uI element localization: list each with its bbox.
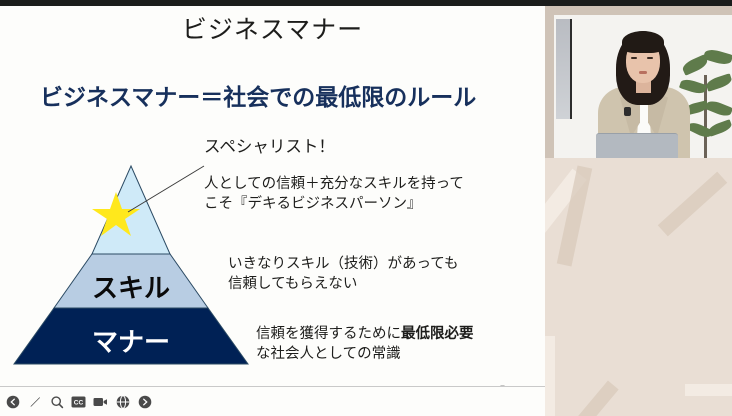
- slide-title: ビジネスマナー: [0, 10, 545, 46]
- search-icon[interactable]: [49, 394, 64, 409]
- slide-canvas: ビジネスマナー ビジネスマナー＝社会での最低限のルール スキル マナー スペシャ…: [0, 6, 545, 386]
- laptop: [596, 133, 678, 158]
- manner-note-line-1-emphasis: 最低限必要: [401, 326, 474, 342]
- window-top-strip: [0, 0, 732, 6]
- clip-microphone: [624, 107, 631, 116]
- specialist-note-heading: スペシャリスト！: [204, 136, 335, 159]
- decor-stripe-4: [545, 336, 555, 416]
- forward-icon[interactable]: [137, 394, 152, 409]
- skill-note-line-1: いきなりスキル（技術）があっても: [228, 254, 459, 274]
- presenter-mouth: [639, 71, 647, 74]
- presentation-player: ビジネスマナー ビジネスマナー＝社会での最低限のルール スキル マナー スペシャ…: [0, 0, 732, 416]
- presenter-eye-left: [631, 57, 637, 59]
- back-icon[interactable]: [5, 394, 20, 409]
- specialist-note-line-2: こそ『デキるビジネスパーソン』: [204, 194, 464, 214]
- presenter-pane: [545, 6, 732, 416]
- specialist-note-body: 人としての信頼＋充分なスキルを持って こそ『デキるビジネスパーソン』: [204, 174, 464, 214]
- manner-note-line-1: 信頼を獲得するために最低限必要: [256, 324, 474, 344]
- video-content: [554, 15, 732, 158]
- skill-note-line-2: 信頼してもらえない: [228, 274, 459, 294]
- player-toolbar: CC: [0, 386, 545, 416]
- manner-note-line-1-plain: 信頼を獲得するために: [256, 326, 401, 342]
- specialist-note-line-1: 人としての信頼＋充分なスキルを持って: [204, 174, 464, 194]
- monitor: [556, 19, 572, 119]
- presenter-eye-right: [647, 57, 653, 59]
- slide-subtitle: ビジネスマナー＝社会での最低限のルール: [40, 78, 476, 112]
- manner-note-line-2: な社会人としての常識: [256, 344, 474, 364]
- svg-text:CC: CC: [74, 399, 84, 406]
- presenter-fringe: [622, 31, 664, 53]
- decor-stripe-5: [569, 381, 618, 416]
- manner-note: 信頼を獲得するために最低限必要 な社会人としての常識: [256, 324, 474, 364]
- presenter-video[interactable]: [545, 6, 732, 158]
- skill-note: いきなりスキル（技術）があっても 信頼してもらえない: [228, 254, 459, 294]
- manner-tier-label: マナー: [12, 322, 250, 359]
- skill-tier-label: スキル: [12, 268, 250, 305]
- globe-icon[interactable]: [115, 394, 130, 409]
- pen-icon[interactable]: [27, 394, 42, 409]
- closed-caption-icon[interactable]: CC: [71, 394, 86, 409]
- decor-stripe-6: [685, 384, 732, 396]
- decor-stripe-3: [658, 172, 727, 237]
- video-camera-icon[interactable]: [93, 394, 108, 409]
